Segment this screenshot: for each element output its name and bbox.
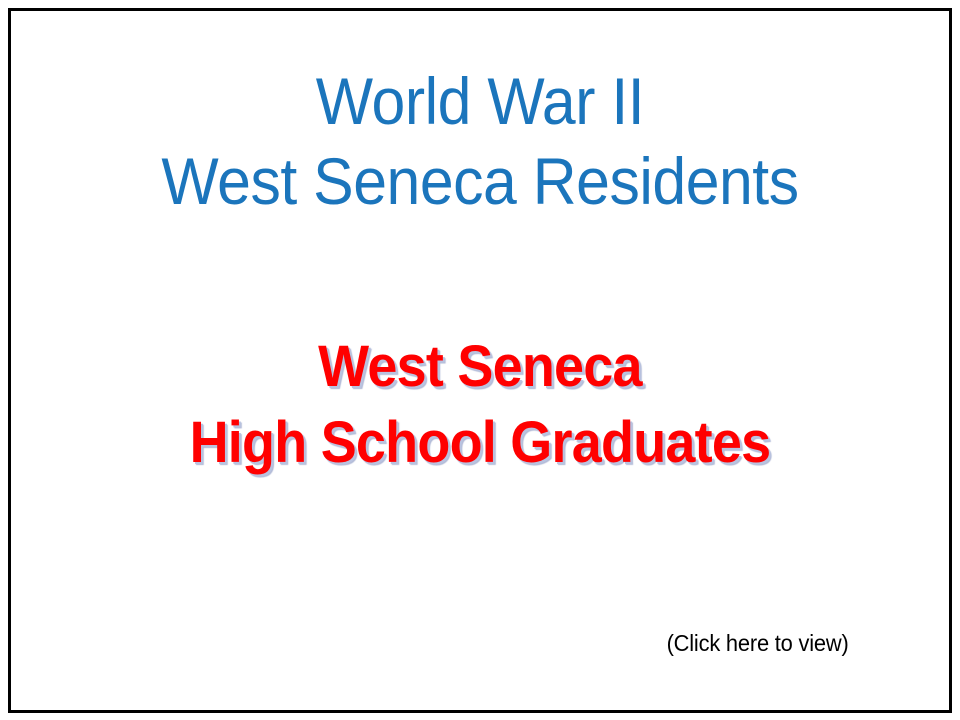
slide-canvas: World War II West Seneca Residents West … (11, 11, 949, 710)
title-line-1: World War II (49, 61, 912, 141)
title-line-2: West Seneca Residents (49, 141, 912, 221)
presentation-slide: World War II West Seneca Residents West … (8, 8, 952, 713)
slide-subtitle[interactable]: West Seneca High School Graduates (11, 329, 949, 481)
subtitle-line-1[interactable]: West Seneca (44, 329, 916, 405)
subtitle-line-2[interactable]: High School Graduates (44, 405, 916, 481)
slide-title: World War II West Seneca Residents (11, 61, 949, 221)
click-here-to-view-note[interactable]: (Click here to view) (667, 628, 849, 658)
